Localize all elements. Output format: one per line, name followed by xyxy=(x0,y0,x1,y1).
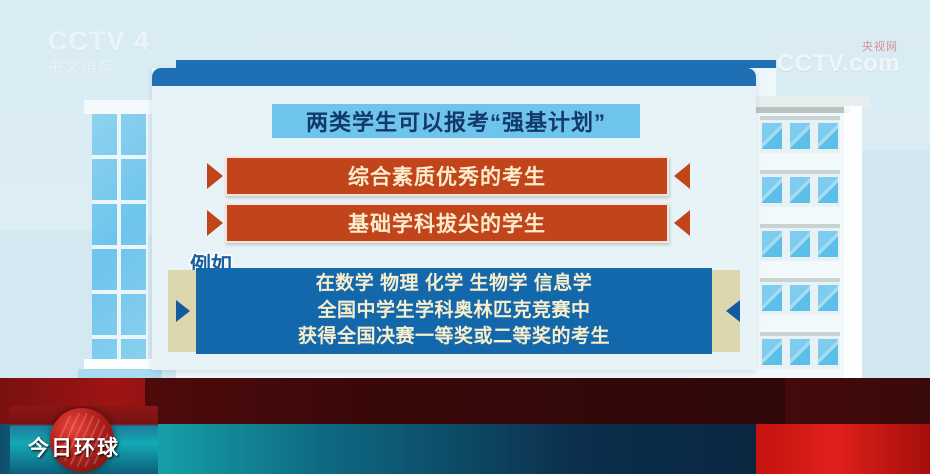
example-line-1: 在数学 物理 化学 生物学 信息学 xyxy=(316,271,593,298)
building-window-row xyxy=(760,227,840,261)
panel-headline: 两类学生可以报考“强基计划” xyxy=(272,104,640,138)
program-name-text: 今日环球 xyxy=(28,432,120,462)
cctv-com-watermark: 央视网 CCTV.com xyxy=(777,38,900,78)
channel-number: 4 xyxy=(134,26,150,56)
example-line-3: 获得全国决赛一等奖或二等奖的考生 xyxy=(298,324,610,351)
date-badge: 4月16日 xyxy=(756,424,930,474)
building-window-row xyxy=(760,173,840,207)
example-line-2: 全国中学生学科奥林匹克竞赛中 xyxy=(317,298,590,325)
program-logo: 今日环球 xyxy=(10,406,158,474)
example-box: 在数学 物理 化学 生物学 信息学 全国中学生学科奥林匹克竞赛中 获得全国决赛一… xyxy=(196,268,712,354)
arrow-right-icon xyxy=(207,210,223,236)
criteria-bar-1-text: 综合素质优秀的考生 xyxy=(348,161,546,191)
channel-logo-text: CCTV xyxy=(48,26,126,56)
right-building-roof-shadow xyxy=(752,107,850,113)
arrow-left-icon xyxy=(674,210,690,236)
arrow-right-icon xyxy=(176,300,190,322)
building-window-row xyxy=(760,281,840,315)
tower-base xyxy=(84,359,156,369)
web-logo-text: CCTV.com xyxy=(777,50,900,77)
building-window-row xyxy=(760,119,840,153)
criteria-bar-2: 基础学科拔尖的学生 xyxy=(225,203,669,243)
glass-tower-graphic xyxy=(92,100,148,390)
panel-headline-text: 两类学生可以报考“强基计划” xyxy=(306,105,606,137)
tower-glass xyxy=(92,114,148,359)
building-window-row xyxy=(760,335,840,369)
central-building-band xyxy=(176,60,776,68)
tower-cap xyxy=(84,100,156,114)
criteria-bar-1: 综合素质优秀的考生 xyxy=(225,156,669,196)
broadcast-frame: CCTV 4 中文国际 央视网 CCTV.com 两类学生可以报考“强基计划” … xyxy=(0,0,930,474)
arrow-left-icon xyxy=(674,163,690,189)
criteria-bar-2-text: 基础学科拔尖的学生 xyxy=(348,208,546,238)
right-building-cornice xyxy=(844,106,862,386)
arrow-left-icon xyxy=(726,300,740,322)
info-panel-top-bar xyxy=(152,68,756,86)
arrow-right-icon xyxy=(207,163,223,189)
